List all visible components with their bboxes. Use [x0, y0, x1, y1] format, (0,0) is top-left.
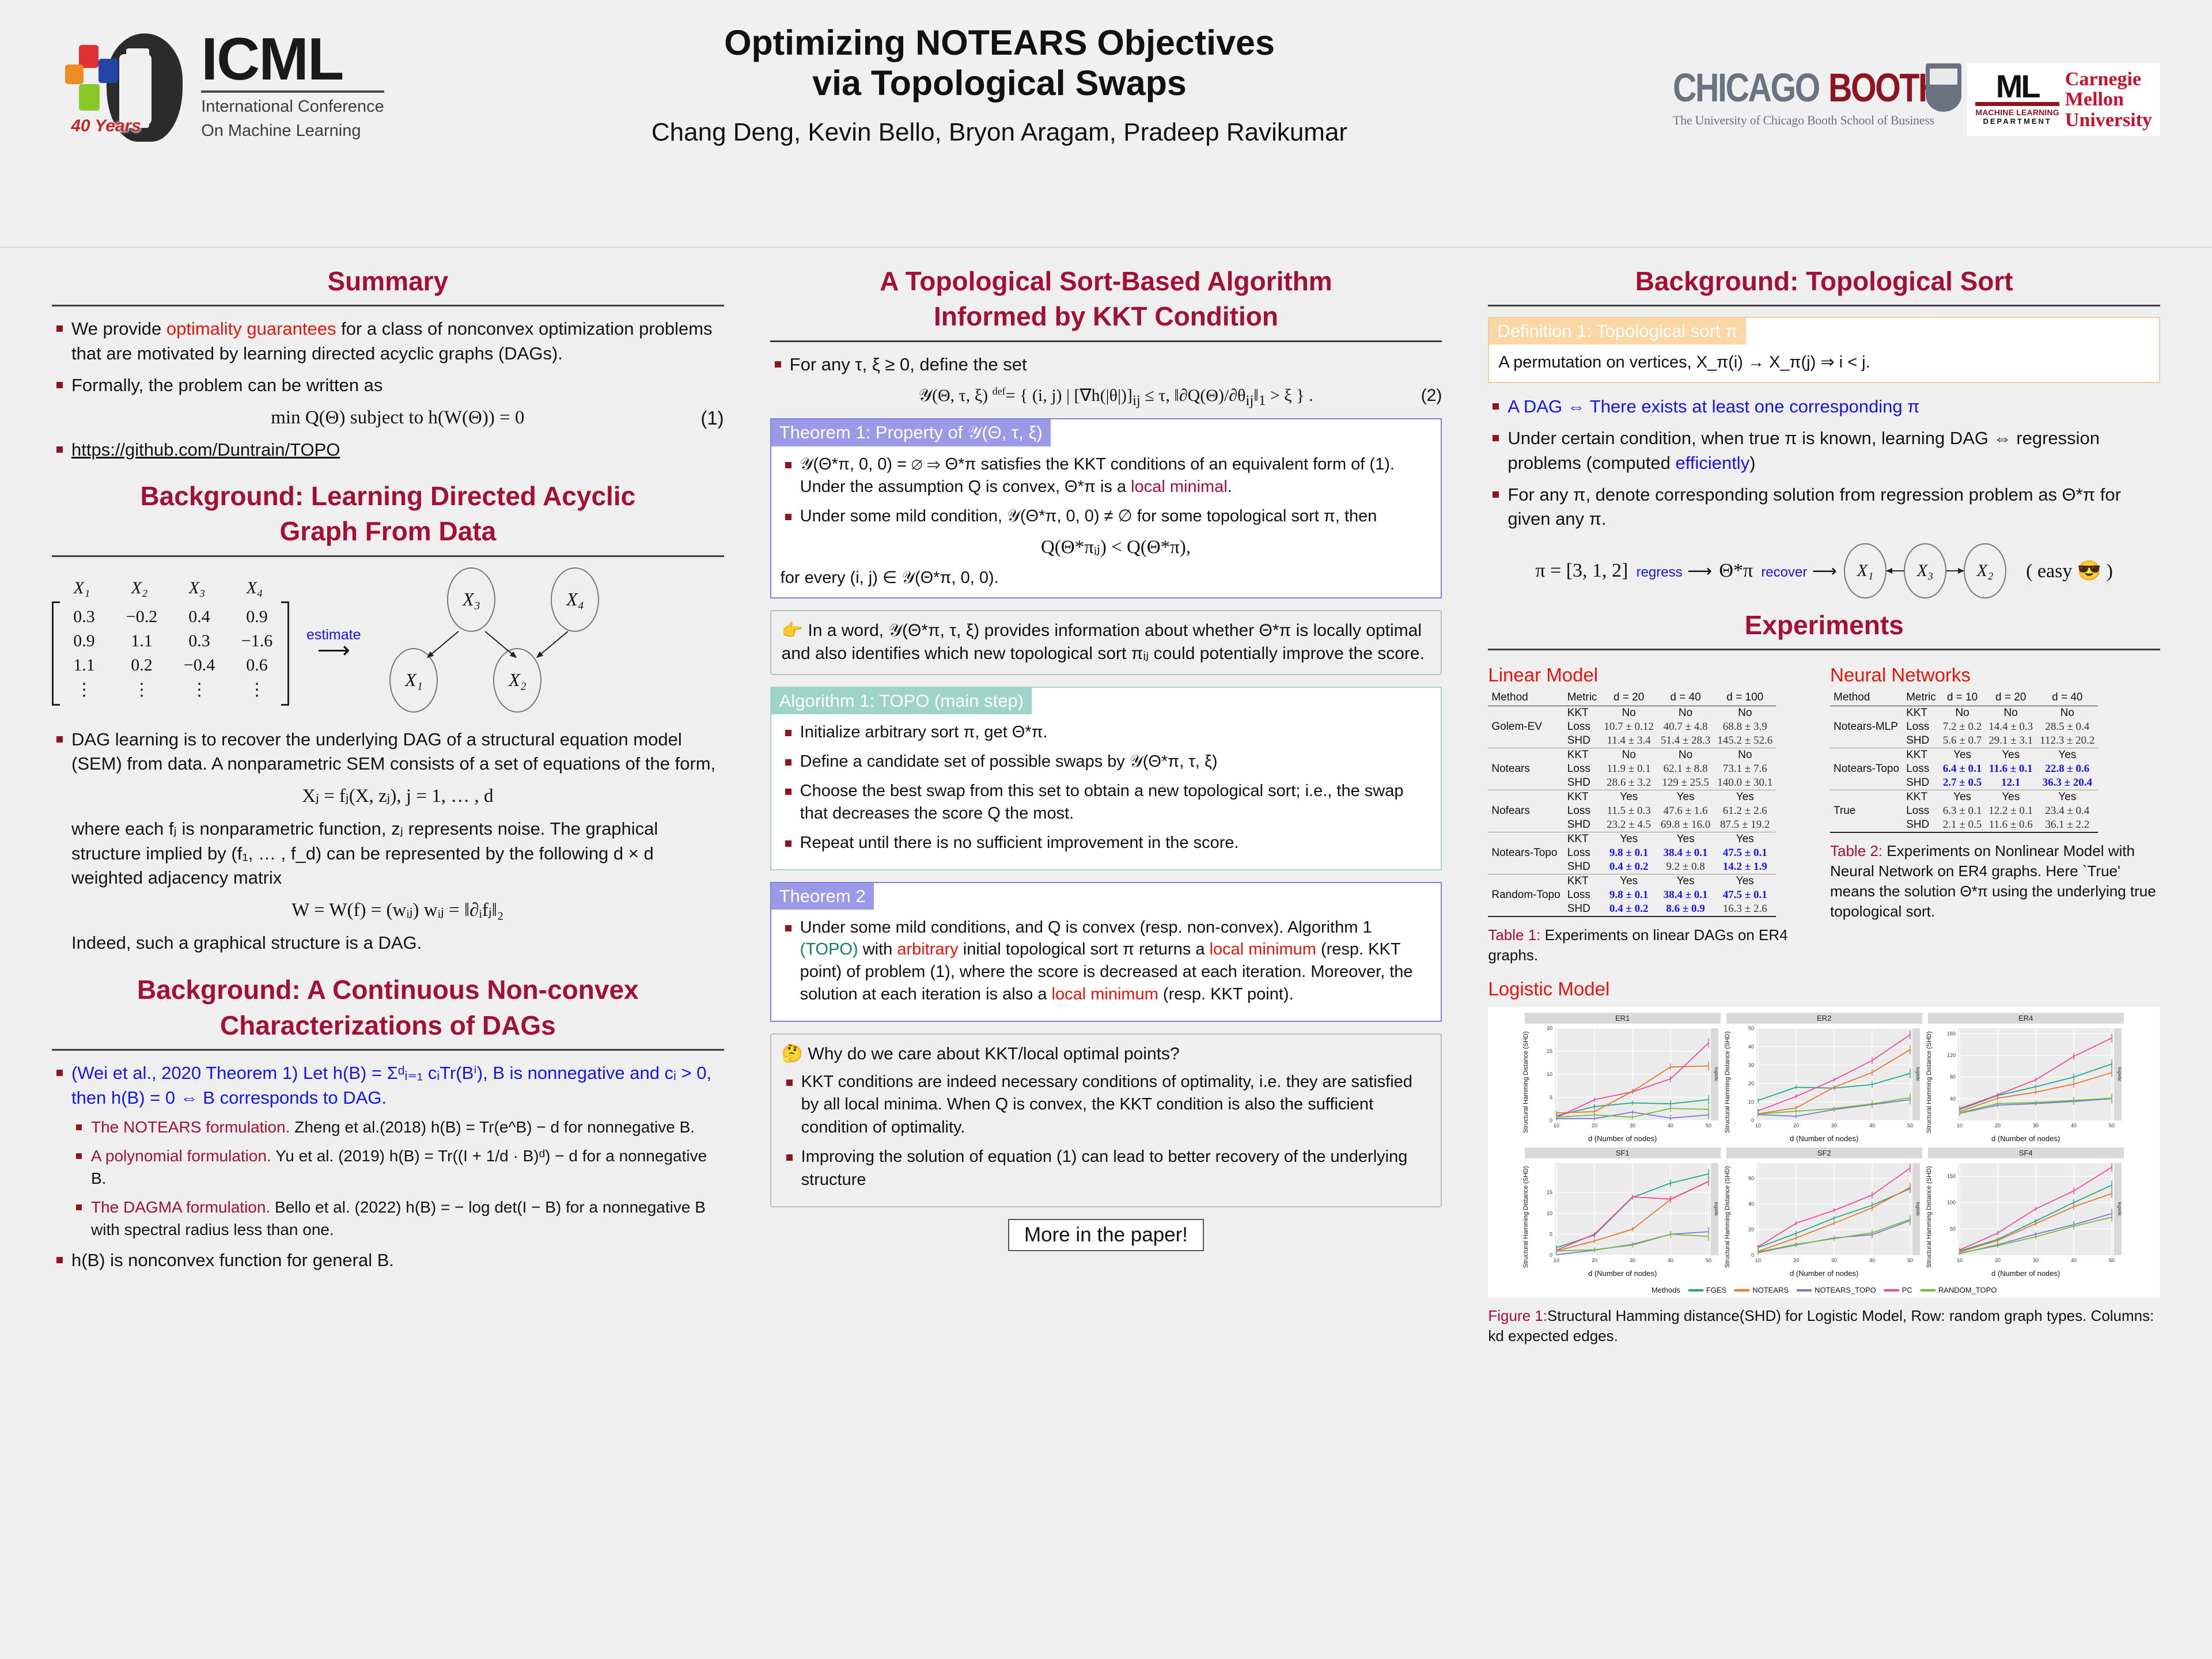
chart-y-axis-label: Structural Hamming Distance (SHD): [1926, 1158, 1933, 1268]
matrix-row: 1.1 0.2 −0.4 0.6: [63, 653, 278, 677]
estimate-arrow: estimate ⟶: [306, 627, 361, 657]
dag-node-x4: X₄: [551, 567, 599, 632]
table-cell-value: No: [1622, 707, 1635, 719]
svg-text:50: 50: [1748, 1025, 1754, 1031]
algorithm1-step: Repeat until there is no sufficient impr…: [781, 832, 1432, 854]
summary-title: Summary: [52, 260, 724, 301]
algorithm1-box: Algorithm 1: TOPO (main step) Initialize…: [770, 687, 1442, 870]
theorem1-b1-post: .: [1228, 478, 1232, 496]
table-row: Golem-EVLoss10.7 ± 0.1240.7 ± 4.868.8 ± …: [1488, 720, 1776, 734]
table-header: d = 10: [1940, 691, 1985, 706]
table-header: d = 20: [1600, 691, 1657, 706]
table-row: KKTYesYesYes: [1488, 832, 1776, 847]
svg-text:logistic: logistic: [1714, 1202, 1719, 1216]
table-cell-value: 7.2 ± 0.2: [1943, 721, 1982, 733]
table-cell-value: No: [1738, 749, 1752, 761]
figure1-legend: MethodsFGESNOTEARSNOTEARS_TOPOPCRANDOM_T…: [1491, 1282, 2157, 1296]
experiments-title: Experiments: [1488, 604, 2160, 645]
svg-text:40: 40: [1668, 1257, 1673, 1263]
table-cell-value: 14.2 ± 1.9: [1723, 861, 1767, 873]
minidag-node-x2: X₂: [1964, 543, 2006, 599]
table-cell-metric: Loss: [1564, 804, 1601, 818]
kkt-bullet-2: Improving the solution of equation (1) c…: [782, 1146, 1431, 1191]
summary-b2-text: Formally, the problem can be written as: [71, 375, 382, 395]
svg-text:30: 30: [2033, 1257, 2039, 1263]
toposort-bullet-3: For any π, denote corresponding solution…: [1488, 483, 2160, 532]
table-row: SHD5.6 ± 0.729.1 ± 3.1112.3 ± 20.2: [1830, 734, 2098, 748]
chart-panel-sf4: SF4Structural Hamming Distance (SHD)5010…: [1928, 1147, 2124, 1278]
svg-text:0: 0: [1550, 1118, 1552, 1123]
table1-caption: Table 1: Experiments on linear DAGs on E…: [1488, 925, 1817, 965]
icml-logo: 40 Years ICML International Conference O…: [0, 0, 449, 144]
table-cell-value: 8.6 ± 0.9: [1666, 903, 1705, 915]
svg-text:10: 10: [1748, 1099, 1754, 1105]
table-header: Metric: [1564, 691, 1601, 706]
svg-text:20: 20: [1793, 1257, 1799, 1263]
table-cell-method: [1488, 734, 1563, 748]
algorithm1-heading: Algorithm 1: TOPO (main step): [771, 688, 1032, 714]
matrix-cell: 0.3: [179, 629, 220, 653]
legend-item-label: RANDOM_TOPO: [1938, 1286, 1997, 1294]
theorem1-box: Theorem 1: Property of 𝒴(Θ, τ, ξ) 𝒴(Θ*π,…: [770, 418, 1442, 599]
svg-text:20: 20: [1592, 1257, 1597, 1263]
definition1-box: Definition 1: Topological sort π A permu…: [1488, 317, 2160, 383]
svg-text:50: 50: [1907, 1257, 1913, 1263]
table-cell-value: Yes: [1677, 875, 1695, 887]
theorem2-p3: initial topological sort π returns a: [959, 940, 1210, 959]
table-cell-value: 36.1 ± 2.2: [2045, 819, 2089, 831]
theorem1-heading: Theorem 1: Property of 𝒴(Θ, τ, ξ): [771, 419, 1051, 446]
table-cell-value: 47.5 ± 0.1: [1723, 889, 1767, 901]
svg-text:20: 20: [1995, 1257, 2001, 1263]
table-cell-metric: Loss: [1564, 762, 1601, 776]
icml-wordmark: ICML: [201, 31, 384, 93]
svg-text:logistic: logistic: [1915, 1202, 1921, 1216]
figure1-caption-tag: Figure 1:: [1488, 1307, 1547, 1324]
table-cell-metric: Loss: [1903, 762, 1940, 776]
table-cell-metric: KKT: [1903, 790, 1940, 805]
table-cell-value: 51.4 ± 28.3: [1661, 734, 1710, 747]
svg-text:0: 0: [1751, 1252, 1754, 1258]
pipeline-regress-label: regress: [1637, 565, 1683, 580]
matrix-cell: 0.9: [236, 605, 278, 629]
divider: [52, 555, 724, 557]
table-cell-value: 69.8 ± 16.0: [1661, 819, 1710, 831]
table-row: SHD2.1 ± 0.511.6 ± 0.636.1 ± 2.2: [1830, 818, 2098, 832]
table-cell-method: [1488, 776, 1563, 790]
table-cell-metric: Loss: [1903, 804, 1940, 818]
table-row: Notears-MLPLoss7.2 ± 0.214.4 ± 0.328.5 ±…: [1830, 720, 2098, 734]
table-cell-value: 140.0 ± 30.1: [1717, 777, 1772, 789]
svg-text:10: 10: [1755, 1123, 1761, 1128]
legend-swatch: [1797, 1289, 1812, 1291]
table-row: KKTYesYesYes: [1488, 874, 1776, 889]
table-cell-value: 47.5 ± 0.1: [1723, 847, 1767, 859]
theorem1-b1-pre: 𝒴(Θ*π, 0, 0) = ∅ ⇒ Θ*π satisfies the KKT…: [800, 455, 1395, 496]
table-cell-value: 9.2 ± 0.8: [1666, 861, 1705, 873]
theorem1-b1-highlight: local minimal: [1131, 478, 1228, 496]
algorithm-title-line1: A Topological Sort-Based Algorithm: [770, 260, 1442, 301]
svg-text:30: 30: [2033, 1123, 2039, 1128]
more-in-paper-label: More in the paper!: [1008, 1219, 1204, 1251]
table-cell-value: Yes: [1620, 791, 1638, 803]
svg-text:30: 30: [1630, 1123, 1635, 1128]
chart-y-axis-label: Structural Hamming Distance (SHD): [1926, 1024, 1933, 1133]
table-cell-value: 2.1 ± 0.5: [1943, 819, 1982, 831]
table-cell-value: 6.3 ± 0.1: [1943, 805, 1982, 817]
algorithm-intro: For any τ, ξ ≥ 0, define the set 𝒴(Θ, τ,…: [770, 353, 1442, 411]
figure1-caption-text: Structural Hamming distance(SHD) for Log…: [1488, 1307, 2154, 1344]
table-cell-value: 0.4 ± 0.2: [1609, 903, 1648, 915]
chart-panel-title: ER1: [1525, 1013, 1721, 1024]
svg-text:logistic: logistic: [2117, 1067, 2122, 1081]
kkt-question-note: 🤔 Why do we care about KKT/local optimal…: [770, 1033, 1442, 1207]
github-link[interactable]: https://github.com/Duntrain/TOPO: [71, 440, 340, 460]
legend-item-pc: PC: [1884, 1286, 1912, 1294]
chart-x-axis-label: d (Number of nodes): [1525, 1268, 1721, 1278]
algorithm-equation-number: (2): [1421, 384, 1442, 407]
svg-text:0: 0: [1751, 1118, 1754, 1123]
dag-bg-equation-w: W = W(f) = (wᵢⱼ) wᵢⱼ = ‖∂ᵢfⱼ‖₂: [71, 897, 724, 924]
minidag-edge-x3-x2: [1946, 570, 1964, 571]
table-cell-value: Yes: [1953, 791, 1971, 803]
poster-header: 40 Years ICML International Conference O…: [0, 0, 2212, 248]
neural-networks-heading: Neural Networks: [1830, 664, 2160, 686]
matrix-cell: ⋮: [179, 677, 220, 702]
nonconvex-title-line2: Characterizations of DAGs: [52, 1010, 724, 1046]
arrow-right-icon: ⟶: [1812, 562, 1836, 581]
matrix-bracket-right: [281, 601, 289, 706]
matrix-cell: 0.2: [121, 653, 162, 677]
svg-text:logistic: logistic: [2117, 1202, 2122, 1216]
svg-text:0: 0: [1550, 1252, 1552, 1258]
theorem1-bullet-1: 𝒴(Θ*π, 0, 0) = ∅ ⇒ Θ*π satisfies the KKT…: [781, 453, 1432, 498]
kkt-bullet-1: KKT conditions are indeed necessary cond…: [782, 1071, 1431, 1139]
more-in-paper: More in the paper!: [770, 1219, 1442, 1251]
booth-word-chicago: CHICAGO: [1673, 65, 1819, 111]
table-cell-value: 16.3 ± 2.6: [1723, 903, 1767, 915]
svg-text:20: 20: [1592, 1123, 1597, 1128]
table-cell-metric: Loss: [1564, 720, 1601, 734]
table-row: Notears-TopoLoss9.8 ± 0.138.4 ± 0.147.5 …: [1488, 846, 1776, 860]
figure1-panels: ER1Structural Hamming Distance (SHD)0510…: [1488, 1007, 2160, 1298]
chart-x-axis-label: d (Number of nodes): [1525, 1133, 1721, 1143]
table-row: SHD23.2 ± 4.569.8 ± 16.087.5 ± 19.2: [1488, 818, 1776, 832]
theorem1-equation: Q(Θ*πᵢⱼ) < Q(Θ*π),: [800, 535, 1432, 560]
svg-text:50: 50: [2109, 1123, 2115, 1128]
svg-text:30: 30: [1630, 1257, 1635, 1263]
algorithm-intro-bullet: For any τ, ξ ≥ 0, define the set 𝒴(Θ, τ,…: [770, 353, 1442, 411]
arrow-right-icon: ⟶: [1687, 562, 1711, 581]
table-cell-method: Notears: [1488, 762, 1563, 776]
cmu-dept-line1: MACHINE LEARNING: [1975, 108, 2059, 117]
table-cell-metric: KKT: [1564, 832, 1601, 847]
svg-text:50: 50: [1907, 1123, 1913, 1128]
chart-x-axis-label: d (Number of nodes): [1726, 1133, 1922, 1143]
table-cell-method: [1488, 832, 1563, 847]
table-cell-value: No: [1679, 707, 1692, 719]
table-cell-metric: SHD: [1903, 734, 1940, 748]
table-cell-method: [1488, 748, 1563, 763]
table-cell-value: Yes: [1736, 791, 1754, 803]
toposort-b2-post: ): [1749, 453, 1755, 473]
svg-text:10: 10: [1957, 1257, 1963, 1263]
table-cell-value: Yes: [2002, 749, 2020, 761]
table-cell-value: 29.1 ± 3.1: [1988, 734, 2033, 747]
svg-text:100: 100: [1947, 1200, 1956, 1206]
table-cell-value: 38.4 ± 0.1: [1664, 847, 1708, 859]
dag-graph: X₃ X₄ X₁ X₂: [378, 567, 620, 717]
table-cell-method: Notears-MLP: [1830, 720, 1903, 734]
svg-text:10: 10: [1547, 1210, 1552, 1216]
table-cell-method: [1488, 874, 1563, 889]
summary-equation-number: (1): [700, 405, 724, 431]
table-cell-value: 12.1: [2001, 777, 2020, 789]
divider: [770, 340, 1442, 342]
svg-text:20: 20: [1748, 1227, 1754, 1233]
table-cell-value: Yes: [1677, 791, 1695, 803]
table-row: KKTYesYesYes: [1830, 748, 2098, 763]
svg-text:10: 10: [1554, 1257, 1559, 1263]
toposort-bullet-2: Under certain condition, when true π is …: [1488, 426, 2160, 476]
table-cell-metric: SHD: [1564, 776, 1601, 790]
table-cell-value: Yes: [2058, 749, 2076, 761]
linear-model-heading: Linear Model: [1488, 664, 1817, 686]
table-cell-value: 145.2 ± 52.6: [1717, 734, 1772, 747]
definition1-heading: Definition 1: Topological sort π: [1489, 318, 1745, 344]
table-cell-value: 14.4 ± 0.3: [1988, 721, 2033, 733]
table-cell-value: 47.6 ± 1.6: [1664, 805, 1708, 817]
legend-item-label: NOTEARS: [1752, 1286, 1789, 1294]
svg-text:50: 50: [1706, 1123, 1711, 1128]
algorithm-equation-2: 𝒴(Θ, τ, ξ) def= { (i, j) | [∇h(|θ|)]ij ≤…: [790, 384, 1442, 411]
table-row: NofearsLoss11.5 ± 0.347.6 ± 1.661.2 ± 2.…: [1488, 804, 1776, 818]
chart-panel-er1: ER1Structural Hamming Distance (SHD)0510…: [1525, 1013, 1721, 1143]
legend-swatch: [1884, 1289, 1899, 1291]
table-cell-method: [1830, 776, 1903, 790]
cmu-dept-line2: DEPARTMENT: [1975, 117, 2059, 126]
svg-text:50: 50: [1706, 1257, 1711, 1263]
chart-panel-er4: ER4Structural Hamming Distance (SHD)4080…: [1928, 1013, 2124, 1143]
polynomial-formulation-tag: A polynomial formulation.: [91, 1147, 271, 1165]
nonconvex-bullet-2: h(B) is nonconvex function for general B…: [52, 1248, 724, 1273]
table-cell-value: 129 ± 25.5: [1662, 777, 1709, 789]
icml-mark-icon: 40 Years: [65, 29, 186, 144]
table-cell-metric: KKT: [1564, 748, 1601, 763]
table-cell-value: Yes: [1620, 875, 1638, 887]
legend-item-label: FGES: [1706, 1286, 1726, 1294]
table-cell-method: [1830, 734, 1903, 748]
table-cell-method: [1830, 748, 1903, 763]
cmu-name-line1: Carnegie: [2065, 69, 2152, 89]
svg-text:logistic: logistic: [1714, 1067, 1719, 1081]
svg-text:10: 10: [1957, 1123, 1963, 1128]
minidag-edge-x3-x1: [1887, 570, 1904, 571]
algorithm-intro-text: For any τ, ξ ≥ 0, define the set: [790, 354, 1027, 374]
table-cell-metric: SHD: [1564, 818, 1601, 832]
theorem2-localmin-2: local minimum: [1052, 985, 1158, 1003]
chart-panel-title: ER4: [1928, 1013, 2124, 1024]
divider: [1488, 305, 2160, 306]
table-cell-value: 28.6 ± 3.2: [1607, 777, 1651, 789]
poster-root: 40 Years ICML International Conference O…: [0, 0, 2212, 1659]
thinking-face-icon: 🤔: [782, 1044, 803, 1063]
minidag-node-x3: X₃: [1904, 543, 1946, 599]
table-cell-value: 62.1 ± 8.8: [1664, 763, 1708, 775]
table-row: SHD0.4 ± 0.28.6 ± 0.916.3 ± 2.6: [1488, 902, 1776, 916]
legend-label: Methods: [1652, 1286, 1680, 1294]
table-row: SHD11.4 ± 3.451.4 ± 28.3145.2 ± 52.6: [1488, 734, 1776, 748]
table-cell-value: 61.2 ± 2.6: [1723, 805, 1767, 817]
table-cell-value: 36.3 ± 20.4: [2043, 777, 2092, 789]
matrix-cell: ⋮: [236, 677, 278, 702]
dagma-formulation-tag: The DAGMA formulation.: [91, 1198, 270, 1216]
nonconvex-sub-polynomial: A polynomial formulation. Yu et al. (201…: [71, 1145, 724, 1190]
table-cell-metric: SHD: [1564, 734, 1601, 748]
svg-text:40: 40: [1869, 1257, 1875, 1263]
table-cell-value: No: [2061, 707, 2074, 719]
table-cell-metric: SHD: [1564, 902, 1601, 916]
table-cell-value: No: [1622, 749, 1635, 761]
algorithm1-step: Choose the best swap from this set to ob…: [781, 780, 1432, 825]
svg-text:60: 60: [1748, 1176, 1754, 1181]
affiliation-logos: CHICAGO BOOTH The University of Chicago …: [1550, 0, 2212, 136]
nonconvex-sub-notears: The NOTEARS formulation. Zheng et al.(20…: [71, 1116, 724, 1139]
chart-y-axis-label: Structural Hamming Distance (SHD): [1522, 1158, 1529, 1268]
table-cell-value: 6.4 ± 0.1: [1943, 763, 1982, 775]
table-cell-value: No: [1738, 707, 1752, 719]
theorem1-bullet-2: Under some mild condition, 𝒴(Θ*π, 0, 0) …: [781, 505, 1432, 560]
table2-caption-tag: Table 2:: [1830, 842, 1883, 859]
table-row: SHD0.4 ± 0.29.2 ± 0.814.2 ± 1.9: [1488, 860, 1776, 874]
matrix-cell: ⋮: [63, 677, 105, 702]
chart-y-axis-label: Structural Hamming Distance (SHD): [1724, 1024, 1731, 1133]
legend-item-notears: NOTEARS: [1734, 1286, 1789, 1294]
cmu-ml-logo: ML MACHINE LEARNING DEPARTMENT Carnegie …: [1967, 63, 2160, 136]
chart-plot-area: 501001501020304050logistic: [1935, 1158, 2124, 1268]
table-cell-metric: KKT: [1903, 706, 1940, 721]
table-cell-value: 11.6 ± 0.1: [1989, 763, 2033, 775]
table-cell-method: Notears-Topo: [1488, 846, 1563, 860]
table-cell-value: Yes: [1736, 833, 1754, 845]
table-cell-metric: KKT: [1903, 748, 1940, 763]
notears-formulation-tag: The NOTEARS formulation.: [91, 1118, 290, 1136]
toposort-body: A DAG ⇔ There exists at least one corres…: [1488, 395, 2160, 532]
divider: [52, 305, 724, 306]
matrix-col-0: X₁: [61, 578, 103, 598]
table-cell-method: Golem-EV: [1488, 720, 1563, 734]
cmu-name-line2: Mellon: [2065, 89, 2152, 109]
figure1-row-sf: SF1Structural Hamming Distance (SHD)0510…: [1491, 1147, 2157, 1278]
chart-panel-er2: ER2Structural Hamming Distance (SHD)0102…: [1726, 1013, 1922, 1143]
pipeline-easy-label: ( easy 😎 ): [2026, 559, 2113, 582]
chart-plot-area: 02040601020304050logistic: [1733, 1158, 1922, 1268]
icml-anniversary-badge: 40 Years: [71, 116, 141, 136]
table-cell-value: 22.8 ± 0.6: [2045, 763, 2089, 775]
matrix-col-1: X₂: [119, 578, 160, 598]
dag-node-x2: X₂: [493, 648, 541, 713]
table-row: KKTYesYesYes: [1488, 790, 1776, 805]
data-matrix: X₁ X₂ X₃ X₄ 0.3 −0.2 0.4 0.9: [52, 578, 289, 706]
table-cell-method: Nofears: [1488, 804, 1563, 818]
summary-bullet-3: https://github.com/Duntrain/TOPO: [52, 438, 724, 463]
table-cell-value: 2.7 ± 0.5: [1943, 777, 1982, 789]
insight-note: 👉 In a word, 𝒴(Θ*π, τ, ξ) provides infor…: [770, 610, 1442, 676]
legend-item-label: NOTEARS_TOPO: [1815, 1286, 1876, 1294]
theorem2-p5: (resp. KKT point).: [1158, 985, 1294, 1003]
table-cell-method: [1830, 818, 1903, 832]
table-cell-metric: Loss: [1564, 888, 1601, 902]
svg-text:30: 30: [1748, 1062, 1754, 1068]
table-cell-value: 38.4 ± 0.1: [1664, 889, 1708, 901]
dag-bg-para1: DAG learning is to recover the underlyin…: [71, 729, 715, 774]
table-cell-value: 9.8 ± 0.1: [1609, 889, 1648, 901]
theorem2-bullet: Under some mild conditions, and Q is con…: [781, 916, 1432, 1006]
table-cell-value: 11.5 ± 0.3: [1607, 805, 1651, 817]
table-cell-value: 73.1 ± 7.6: [1723, 763, 1767, 775]
table-row: Random-TopoLoss9.8 ± 0.138.4 ± 0.147.5 ±…: [1488, 888, 1776, 902]
table-cell-method: [1488, 706, 1563, 721]
chart-plot-area: 0510151020304050logistic: [1532, 1158, 1721, 1268]
table-cell-value: Yes: [2002, 791, 2020, 803]
legend-item-random_topo: RANDOM_TOPO: [1921, 1286, 1997, 1294]
theorem2-body: Under some mild conditions, and Q is con…: [771, 910, 1441, 1021]
column-right: Background: Topological Sort Definition …: [1465, 260, 2183, 1346]
summary-bullet-2: Formally, the problem can be written as …: [52, 373, 724, 431]
pipeline-pi: π = [3, 1, 2]: [1535, 560, 1628, 582]
table-cell-method: True: [1830, 804, 1903, 818]
chart-x-axis-label: d (Number of nodes): [1928, 1268, 2124, 1278]
matrix-cell: −1.6: [236, 629, 278, 653]
nonconvex-title-line1: Background: A Continuous Non-convex: [52, 969, 724, 1010]
legend-swatch: [1734, 1289, 1749, 1291]
dag-bg-title-line1: Background: Learning Directed Acyclic: [52, 475, 724, 516]
theorem2-box: Theorem 2 Under some mild conditions, an…: [770, 882, 1442, 1022]
svg-text:50: 50: [1950, 1226, 1956, 1232]
chart-panel-title: SF1: [1525, 1147, 1721, 1158]
dag-bg-body: DAG learning is to recover the underlyin…: [52, 728, 724, 956]
chart-panel-sf2: SF2Structural Hamming Distance (SHD)0204…: [1726, 1147, 1922, 1278]
svg-text:15: 15: [1547, 1190, 1552, 1195]
pipeline-arrow-regress: regress ⟶: [1636, 560, 1711, 582]
summary-bullet-1: We provide optimality guarantees for a c…: [52, 317, 724, 366]
uchicago-crest-icon: [1926, 63, 1961, 112]
table-row: NotearsLoss11.9 ± 0.162.1 ± 8.873.1 ± 7.…: [1488, 762, 1776, 776]
svg-text:20: 20: [1748, 1081, 1754, 1086]
title-block: Optimizing NOTEARS Objectives via Topolo…: [449, 0, 1550, 147]
chart-plot-area: 010203040501020304050logistic: [1733, 1024, 1922, 1133]
svg-text:40: 40: [1668, 1123, 1673, 1128]
svg-text:40: 40: [1748, 1044, 1754, 1050]
matrix-row: 0.9 1.1 0.3 −1.6: [63, 629, 278, 653]
algorithm1-step: Initialize arbitrary sort π, get Θ*π.: [781, 721, 1432, 744]
table-cell-method: [1488, 790, 1563, 805]
table-cell-value: 23.2 ± 4.5: [1607, 819, 1651, 831]
svg-text:30: 30: [1831, 1257, 1837, 1263]
svg-text:40: 40: [2071, 1123, 2077, 1128]
table-cell-method: Random-Topo: [1488, 888, 1563, 902]
poster-columns: Summary We provide optimality guarantees…: [0, 248, 2212, 1346]
matrix-column-headers: X₁ X₂ X₃ X₄: [52, 578, 289, 598]
theorem2-heading: Theorem 2: [771, 883, 874, 910]
chart-x-axis-label: d (Number of nodes): [1726, 1268, 1922, 1278]
toposort-title: Background: Topological Sort: [1488, 260, 2160, 301]
table-cell-method: [1830, 706, 1903, 721]
table-row: KKTYesYesYes: [1830, 790, 2098, 805]
svg-text:5: 5: [1550, 1232, 1552, 1237]
booth-tagline: The University of Chicago Booth School o…: [1673, 113, 1961, 128]
table-cell-value: No: [2004, 707, 2018, 719]
